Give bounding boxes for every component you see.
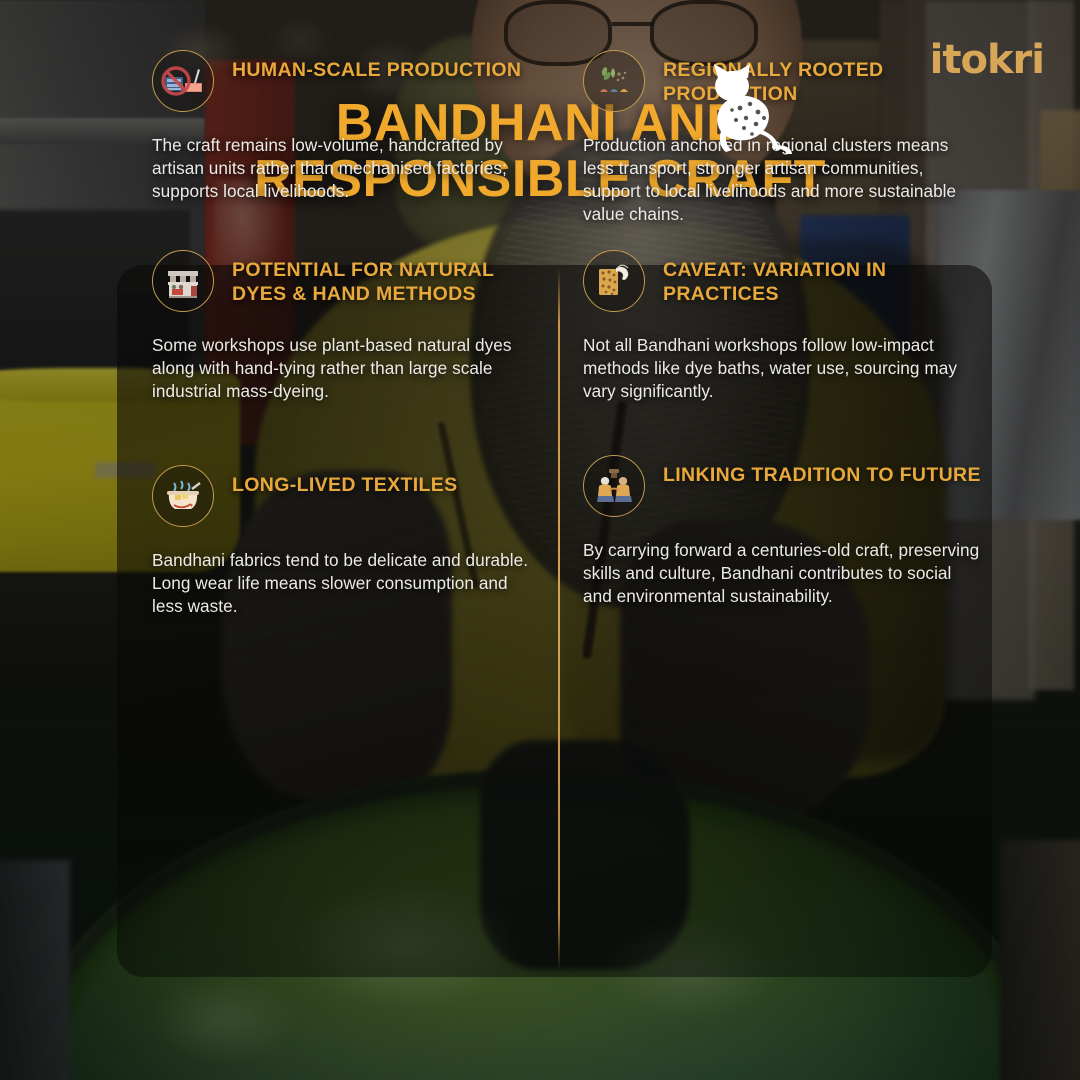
workshop-building-icon [152, 250, 214, 312]
hand-holding-fabric-icon [583, 250, 645, 312]
feature-body: The craft remains low-volume, handcrafte… [152, 134, 542, 203]
feature-title: LINKING TRADITION TO FUTURE [663, 455, 981, 488]
feature-title: HUMAN-SCALE PRODUCTION [232, 50, 521, 83]
feature-body: Not all Bandhani workshops follow low-im… [583, 334, 983, 403]
logo-text: itokri [930, 37, 1044, 83]
feature-title: POTENTIAL FOR NATURAL DYES & HAND METHOD… [232, 250, 542, 307]
feature-item-caveat-variation-in-practices: CAVEAT: VARIATION IN PRACTICES Not all B… [583, 250, 983, 403]
feature-body: By carrying forward a centuries-old craf… [583, 539, 983, 608]
two-artisans-icon [583, 455, 645, 517]
sprouting-plants-icon [583, 50, 645, 112]
feature-title: LONG-LIVED TEXTILES [232, 465, 458, 498]
no-factory-icon [152, 50, 214, 112]
feature-title: CAVEAT: VARIATION IN PRACTICES [663, 250, 983, 307]
feature-item-natural-dyes-hand-methods: POTENTIAL FOR NATURAL DYES & HAND METHOD… [152, 250, 542, 403]
column-divider [558, 268, 560, 970]
feature-body: Some workshops use plant-based natural d… [152, 334, 542, 403]
cat-illustration-icon [688, 58, 796, 158]
feature-item-human-scale-production: HUMAN-SCALE PRODUCTION The craft remains… [152, 50, 542, 203]
steaming-dye-pot-icon [152, 465, 214, 527]
feature-body: Bandhani fabrics tend to be delicate and… [152, 549, 542, 618]
feature-item-long-lived-textiles: LONG-LIVED TEXTILES Bandhani fabrics ten… [152, 465, 542, 618]
itokri-logo[interactable]: itokri [930, 40, 1044, 80]
feature-item-linking-tradition-to-future: LINKING TRADITION TO FUTURE By carrying … [583, 455, 983, 608]
